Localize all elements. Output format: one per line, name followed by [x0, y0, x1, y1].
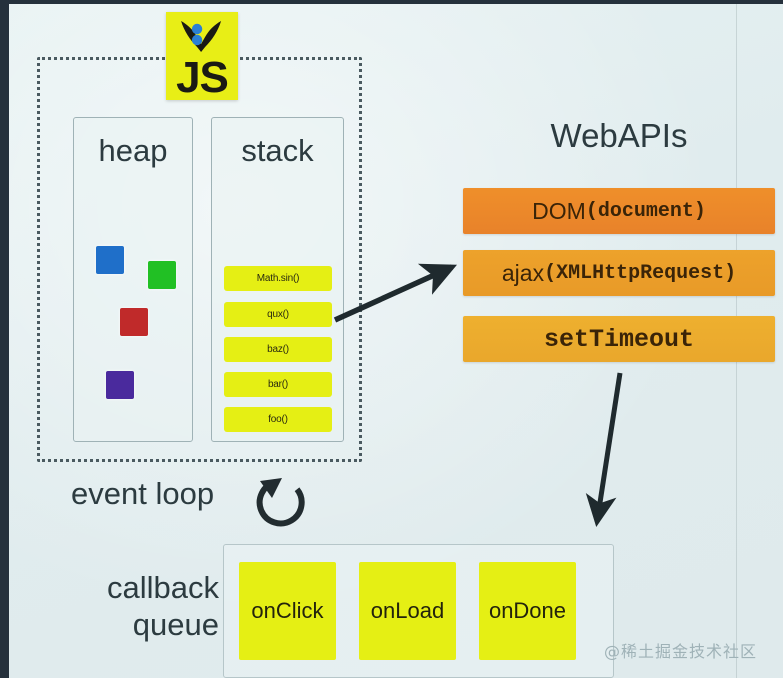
stack-title: stack	[212, 133, 343, 169]
queue-item-onclick[interactable]: onClick	[239, 562, 336, 660]
circular-arrow-icon	[252, 474, 310, 532]
api-box-ajax-mono: (XMLHttpRequest)	[544, 262, 736, 285]
api-box-settimeout[interactable]: setTimeout	[463, 316, 775, 362]
js-logo-text: JS	[176, 58, 228, 100]
heap-object-green	[148, 261, 176, 289]
api-box-ajax[interactable]: ajax (XMLHttpRequest)	[463, 250, 775, 296]
stack-frame-baz: baz()	[224, 337, 332, 362]
api-box-dom-prefix: DOM	[532, 198, 586, 225]
heap-title: heap	[74, 133, 192, 169]
arrow-webapis-to-queue	[597, 373, 620, 522]
stack-frame-qux: qux()	[224, 302, 332, 327]
stack-frame-bar: bar()	[224, 372, 332, 397]
queue-item-onload[interactable]: onLoad	[359, 562, 456, 660]
stack-panel: stack Math.sin() qux() baz() bar() foo()	[211, 117, 344, 442]
heap-panel: heap	[73, 117, 193, 442]
api-box-ajax-prefix: ajax	[502, 260, 544, 287]
queue-item-ondone[interactable]: onDone	[479, 562, 576, 660]
event-loop-label: event loop	[71, 476, 214, 512]
js-logo-badge: JS	[166, 12, 238, 100]
callback-queue-label-line2: queue	[49, 607, 219, 644]
api-box-settimeout-mono: setTimeout	[544, 325, 694, 354]
api-box-dom[interactable]: DOM (document)	[463, 188, 775, 234]
watermark: @稀土掘金技术社区	[604, 638, 757, 662]
heap-object-blue	[96, 246, 124, 274]
callback-queue-label: callback queue	[49, 570, 219, 643]
callback-queue-label-line1: callback	[49, 570, 219, 607]
heap-object-red	[120, 308, 148, 336]
webapis-title: WebAPIs	[461, 117, 777, 155]
heap-object-purple	[106, 371, 134, 399]
js-bug-icon	[178, 18, 224, 56]
api-box-dom-mono: (document)	[586, 200, 706, 223]
diagram-canvas: heap stack Math.sin() qux() baz() bar() …	[0, 0, 783, 678]
stack-frame-math-sin: Math.sin()	[224, 266, 332, 291]
stack-frame-foo: foo()	[224, 407, 332, 432]
